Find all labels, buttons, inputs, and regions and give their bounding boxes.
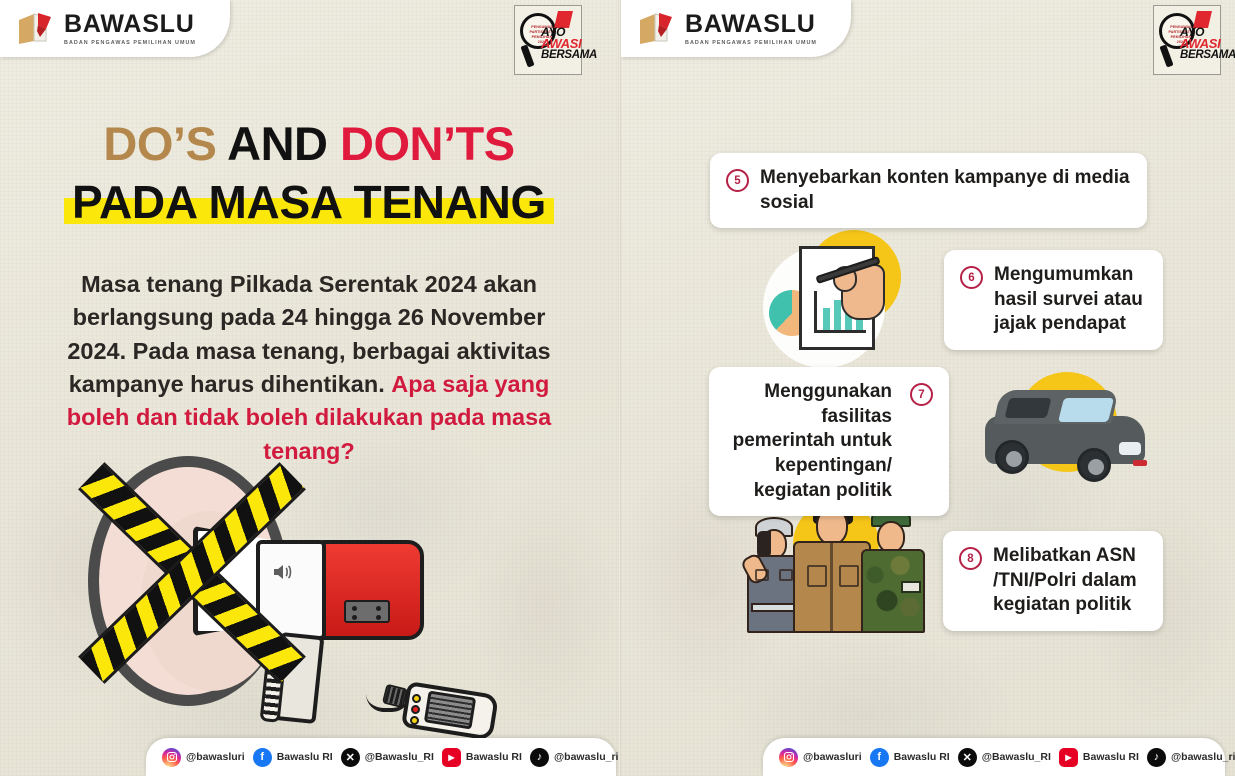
title-subtitle: PADA MASA TENANG <box>72 176 546 228</box>
car-rear-wheel <box>995 440 1029 474</box>
dont-item-8[interactable]: 8 Melibatkan ASN /TNI/Polri dalam kegiat… <box>943 531 1163 631</box>
social-item-instagram-right[interactable]: @bawasluri <box>779 748 862 767</box>
tiktok-icon-right: ♪ <box>1147 748 1166 767</box>
item-number-badge-7: 7 <box>910 383 933 406</box>
title-line-1: DO’S AND DON’TS <box>0 120 618 168</box>
car-rear-window <box>1005 398 1052 418</box>
megaphone-vent <box>344 600 390 623</box>
brand-tagline-right: BADAN PENGAWAS PEMILIHAN UMUM <box>685 40 817 46</box>
instagram-icon <box>162 748 181 767</box>
megaphone-red-body <box>314 540 424 640</box>
social-handle-instagram: @bawasluri <box>186 751 245 763</box>
social-footer-left: @bawasluri f Bawaslu RI ✕ @Bawaslu_RI ▶ … <box>146 738 616 776</box>
item-number-badge-8: 8 <box>959 547 982 570</box>
slide-title-block: DO’S AND DON’TS PADA MASA TENANG <box>0 120 618 230</box>
car-windshield <box>1058 398 1114 422</box>
facebook-icon-right: f <box>870 748 889 767</box>
item-number-badge-6: 6 <box>960 266 983 289</box>
ayo-awasi-bersama-badge-right: PENGAWAS PARTISIPATIF PEMILIHAN 2024 AYO… <box>1153 5 1221 75</box>
title-and: AND <box>227 117 327 170</box>
infographic-screen: BAWASLU BADAN PENGAWAS PEMILIHAN UMUM PE… <box>0 0 1235 776</box>
instagram-icon-right <box>779 748 798 767</box>
social-handle-facebook: Bawaslu RI <box>277 751 333 763</box>
left-slide-panel: BAWASLU BADAN PENGAWAS PEMILIHAN UMUM PE… <box>0 0 618 776</box>
item-text-6: Mengumumkan hasil survei atau jajak pend… <box>994 263 1147 337</box>
dont-item-6[interactable]: 6 Mengumumkan hasil survei atau jajak pe… <box>944 250 1163 350</box>
social-handle-tiktok: @bawaslu_ri <box>554 751 618 763</box>
car-front-wheel <box>1077 448 1111 482</box>
item-text-7: Menggunakan fasilitas pemerintah untuk k… <box>725 380 892 503</box>
intro-paragraph: Masa tenang Pilkada Serentak 2024 akan b… <box>58 268 560 468</box>
tiktok-icon: ♪ <box>530 748 549 767</box>
social-item-youtube[interactable]: ▶ Bawaslu RI <box>442 748 522 767</box>
social-handle-tiktok-right: @bawaslu_ri <box>1171 751 1235 763</box>
dont-item-5[interactable]: 5 Menyebarkan konten kampanye di media s… <box>710 153 1147 228</box>
social-footer-right: @bawasluri f Bawaslu RI ✕ @Bawaslu_RI ▶ … <box>763 738 1225 776</box>
bawaslu-logo-icon-right <box>637 11 677 47</box>
bawaslu-logo-right: BAWASLU BADAN PENGAWAS PEMILIHAN UMUM <box>621 0 851 57</box>
social-item-x[interactable]: ✕ @Bawaslu_RI <box>341 748 434 767</box>
item-number-badge-5: 5 <box>726 169 749 192</box>
ayo-awasi-bersama-badge-left: PENGAWAS PARTISIPATIF PEMILIHAN 2024 AYO… <box>514 5 582 75</box>
item-text-5: Menyebarkan konten kampanye di media sos… <box>760 166 1131 215</box>
youtube-icon-right: ▶ <box>1059 748 1078 767</box>
dont-item-7[interactable]: 7 Menggunakan fasilitas pemerintah untuk… <box>709 367 949 516</box>
title-line-2-wrap: PADA MASA TENANG <box>64 174 554 230</box>
brand-name: BAWASLU <box>64 12 196 37</box>
social-handle-x-right: @Bawaslu_RI <box>982 751 1051 763</box>
social-item-instagram[interactable]: @bawasluri <box>162 748 245 767</box>
x-icon-right: ✕ <box>958 748 977 767</box>
car-taillight <box>1133 460 1147 466</box>
brand-name-right: BAWASLU <box>685 12 817 37</box>
social-item-x-right[interactable]: ✕ @Bawaslu_RI <box>958 748 1051 767</box>
social-handle-youtube-right: Bawaslu RI <box>1083 751 1139 763</box>
social-item-tiktok[interactable]: ♪ @bawaslu_ri <box>530 748 618 767</box>
megaphone-illustration <box>78 448 558 748</box>
bawaslu-logo-icon <box>16 11 56 47</box>
social-handle-youtube: Bawaslu RI <box>466 751 522 763</box>
bawaslu-logo-left: BAWASLU BADAN PENGAWAS PEMILIHAN UMUM <box>0 0 230 57</box>
government-car-illustration <box>973 368 1168 503</box>
title-donts: DON’TS <box>340 117 515 170</box>
megaphone-white-body <box>256 540 326 640</box>
survey-illustration <box>763 228 943 368</box>
social-handle-instagram-right: @bawasluri <box>803 751 862 763</box>
brand-tagline: BADAN PENGAWAS PEMILIHAN UMUM <box>64 40 196 46</box>
social-handle-facebook-right: Bawaslu RI <box>894 751 950 763</box>
social-item-facebook[interactable]: f Bawaslu RI <box>253 748 333 767</box>
megaphone-microphone <box>378 680 496 742</box>
right-slide-panel: BAWASLU BADAN PENGAWAS PEMILIHAN UMUM PE… <box>621 0 1235 776</box>
facebook-icon: f <box>253 748 272 767</box>
social-handle-x: @Bawaslu_RI <box>365 751 434 763</box>
speaker-icon <box>270 560 296 584</box>
badge-line-3-right: BERSAMA <box>1180 50 1224 61</box>
social-item-youtube-right[interactable]: ▶ Bawaslu RI <box>1059 748 1139 767</box>
title-dos: DO’S <box>103 117 216 170</box>
social-item-facebook-right[interactable]: f Bawaslu RI <box>870 748 950 767</box>
item-text-8: Melibatkan ASN /TNI/Polri dalam kegiatan… <box>993 544 1147 618</box>
car-headlight <box>1119 442 1141 455</box>
x-icon: ✕ <box>341 748 360 767</box>
tni-soldier-figure <box>861 507 925 633</box>
youtube-icon: ▶ <box>442 748 461 767</box>
badge-line-3: BERSAMA <box>541 50 585 61</box>
soldier-patch <box>901 581 921 593</box>
asn-civil-servant-figure <box>793 499 871 633</box>
social-item-tiktok-right[interactable]: ♪ @bawaslu_ri <box>1147 748 1235 767</box>
